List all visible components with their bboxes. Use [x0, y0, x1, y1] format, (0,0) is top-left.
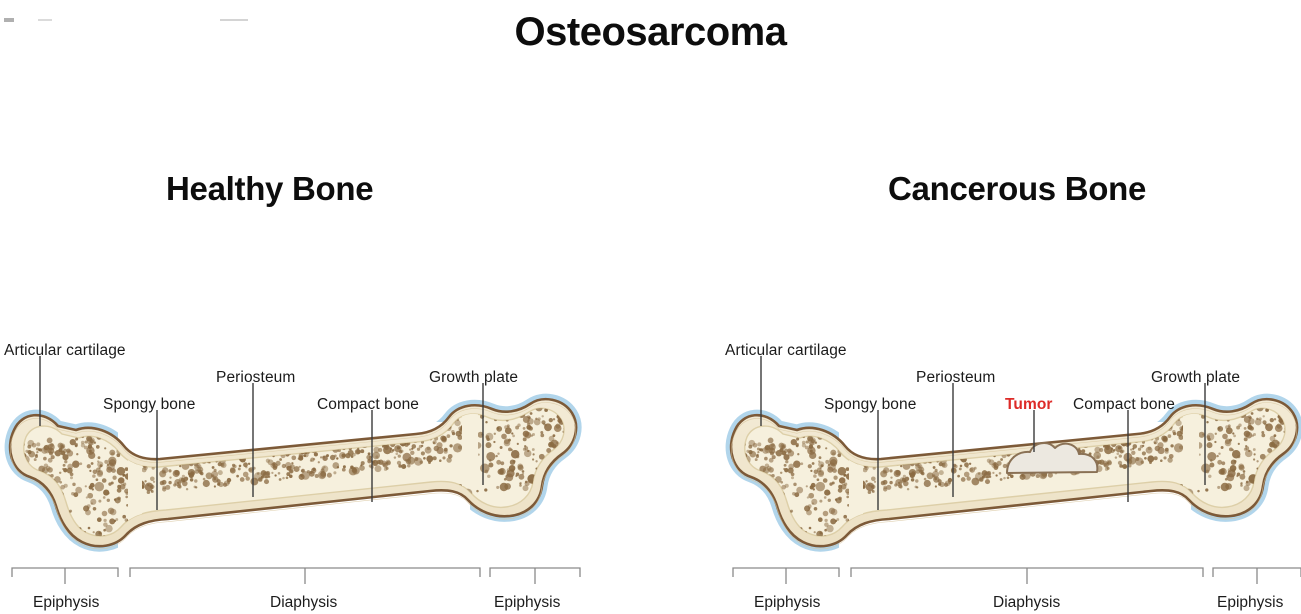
page-title: Osteosarcoma — [0, 10, 1301, 55]
callout-label-compact-bone: Compact bone — [1073, 396, 1175, 414]
chrome-artifact — [220, 19, 248, 21]
callout-label-compact-bone: Compact bone — [317, 396, 419, 414]
bone-diagram-cancerous: Articular cartilageSpongy bonePeriosteum… — [711, 330, 1301, 614]
callout-label-growth-plate: Growth plate — [1151, 369, 1240, 387]
region-bracket-epiphysis-right — [490, 568, 580, 584]
region-bracket-diaphysis — [130, 568, 480, 584]
panel-heading-cancerous: Cancerous Bone — [888, 170, 1146, 208]
panel-heading-healthy: Healthy Bone — [166, 170, 373, 208]
region-bracket-epiphysis-left — [733, 568, 839, 584]
region-bracket-epiphysis-left — [12, 568, 118, 584]
callout-label-articular-cartilage: Articular cartilage — [4, 342, 126, 360]
callout-label-periosteum: Periosteum — [216, 369, 295, 387]
bracket-label-diaphysis: Diaphysis — [270, 594, 337, 612]
callout-label-spongy-bone: Spongy bone — [824, 396, 916, 414]
callout-label-growth-plate: Growth plate — [429, 369, 518, 387]
callout-label-articular-cartilage: Articular cartilage — [725, 342, 847, 360]
callout-label-periosteum: Periosteum — [916, 369, 995, 387]
bracket-label-epiphysis-right: Epiphysis — [1217, 594, 1283, 612]
chrome-artifact — [4, 18, 14, 22]
callout-label-tumor: Tumor — [1005, 396, 1053, 414]
bracket-label-epiphysis-right: Epiphysis — [494, 594, 560, 612]
chrome-artifact — [38, 19, 52, 21]
region-bracket-epiphysis-right — [1213, 568, 1301, 584]
bracket-label-epiphysis-left: Epiphysis — [33, 594, 99, 612]
callout-label-spongy-bone: Spongy bone — [103, 396, 195, 414]
bracket-label-epiphysis-left: Epiphysis — [754, 594, 820, 612]
region-bracket-diaphysis — [851, 568, 1203, 584]
bracket-label-diaphysis: Diaphysis — [993, 594, 1060, 612]
bone-diagram-healthy: Articular cartilageSpongy bonePeriosteum… — [0, 330, 600, 614]
